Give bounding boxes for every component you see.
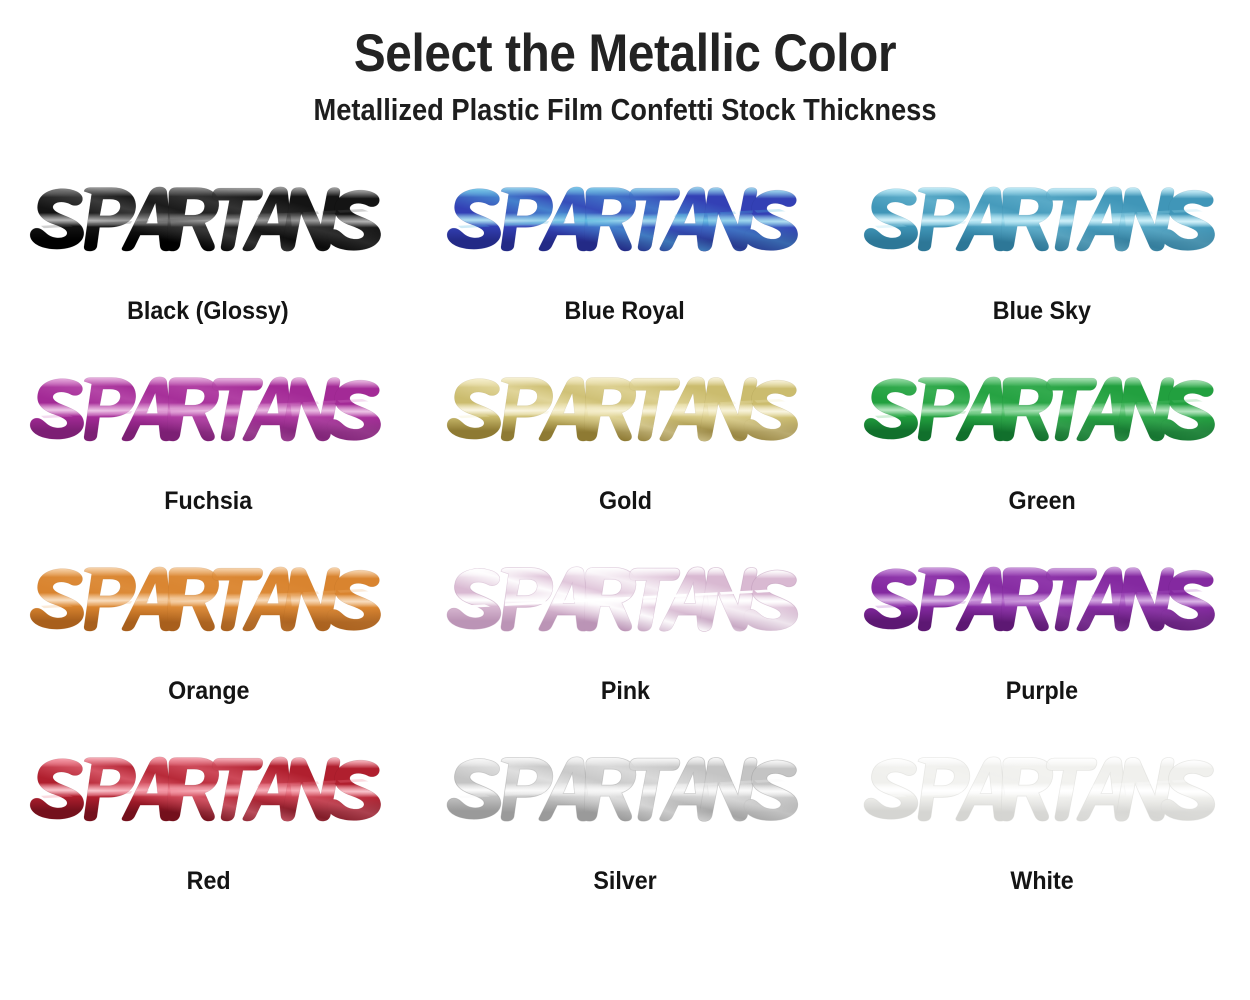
metallic-sheen xyxy=(12,362,418,465)
wordmark-letters xyxy=(845,362,1250,465)
metallic-sheen xyxy=(428,362,834,465)
wordmark-letters xyxy=(845,172,1250,275)
page-header: Select the Metallic Color Metallized Pla… xyxy=(0,0,1250,127)
wordmark-letters xyxy=(428,742,834,845)
wordmark-svg: SPARTANS xyxy=(28,547,388,651)
color-swatch-red[interactable]: SPARTANSRed xyxy=(3,737,413,927)
color-label-black-glossy: Black (Glossy) xyxy=(128,297,290,326)
wordmark-svg: SPARTANS xyxy=(862,737,1222,841)
color-swatch-pink[interactable]: SPARTANSPink xyxy=(420,547,830,737)
wordmark-letters xyxy=(428,172,834,275)
color-label-silver: Silver xyxy=(593,867,656,896)
spartans-wordmark-black-glossy[interactable]: SPARTANS xyxy=(28,167,388,271)
color-swatch-silver[interactable]: SPARTANSSilver xyxy=(420,737,830,927)
wordmark-svg: SPARTANS xyxy=(862,357,1222,461)
metallic-sheen xyxy=(845,172,1250,275)
color-swatch-white[interactable]: SPARTANSWhite xyxy=(837,737,1247,927)
color-label-blue-sky: Blue Sky xyxy=(993,297,1091,326)
metallic-sheen xyxy=(428,172,834,275)
color-label-blue-royal: Blue Royal xyxy=(565,297,685,326)
spartans-wordmark-silver[interactable]: SPARTANS xyxy=(445,737,805,841)
wordmark-letters xyxy=(12,742,418,845)
color-selector-page: Select the Metallic Color Metallized Pla… xyxy=(0,0,1250,1000)
wordmark-svg: SPARTANS xyxy=(445,737,805,841)
metallic-sheen xyxy=(428,742,834,845)
metallic-sheen xyxy=(845,552,1250,655)
color-label-pink: Pink xyxy=(600,677,649,706)
wordmark-letters xyxy=(845,552,1250,655)
wordmark-letters xyxy=(12,172,418,275)
color-label-orange: Orange xyxy=(168,677,249,706)
color-label-red: Red xyxy=(186,867,230,896)
spartans-wordmark-purple[interactable]: SPARTANS xyxy=(862,547,1222,651)
wordmark-svg: SPARTANS xyxy=(862,167,1222,271)
color-swatch-blue-royal[interactable]: SPARTANSBlue Royal xyxy=(420,167,830,357)
wordmark-svg: SPARTANS xyxy=(28,357,388,461)
spartans-wordmark-blue-sky[interactable]: SPARTANS xyxy=(862,167,1222,271)
color-swatch-orange[interactable]: SPARTANSOrange xyxy=(3,547,413,737)
metallic-sheen xyxy=(12,172,418,275)
color-swatch-purple[interactable]: SPARTANSPurple xyxy=(837,547,1247,737)
color-swatch-blue-sky[interactable]: SPARTANSBlue Sky xyxy=(837,167,1247,357)
spartans-wordmark-gold[interactable]: SPARTANS xyxy=(445,357,805,461)
color-swatch-grid: SPARTANSBlack (Glossy)SPARTANSBlue Royal… xyxy=(0,167,1250,927)
wordmark-svg: SPARTANS xyxy=(445,167,805,271)
spartans-wordmark-red[interactable]: SPARTANS xyxy=(28,737,388,841)
metallic-sheen xyxy=(12,552,418,655)
wordmark-svg: SPARTANS xyxy=(28,167,388,271)
metallic-sheen xyxy=(428,552,834,655)
spartans-wordmark-blue-royal[interactable]: SPARTANS xyxy=(445,167,805,271)
spartans-wordmark-pink[interactable]: SPARTANS xyxy=(445,547,805,651)
color-swatch-black-glossy[interactable]: SPARTANSBlack (Glossy) xyxy=(3,167,413,357)
color-label-white: White xyxy=(1010,867,1073,896)
wordmark-letters xyxy=(12,362,418,465)
color-label-purple: Purple xyxy=(1005,677,1077,706)
page-subtitle: Metallized Plastic Film Confetti Stock T… xyxy=(75,93,1175,127)
wordmark-letters xyxy=(428,552,834,655)
wordmark-letters xyxy=(12,552,418,655)
color-swatch-green[interactable]: SPARTANSGreen xyxy=(837,357,1247,547)
metallic-sheen xyxy=(845,362,1250,465)
spartans-wordmark-green[interactable]: SPARTANS xyxy=(862,357,1222,461)
spartans-wordmark-fuchsia[interactable]: SPARTANS xyxy=(28,357,388,461)
color-label-fuchsia: Fuchsia xyxy=(164,487,252,516)
page-title: Select the Metallic Color xyxy=(63,26,1188,81)
color-label-gold: Gold xyxy=(599,487,652,516)
metallic-sheen xyxy=(12,742,418,845)
spartans-wordmark-white[interactable]: SPARTANS xyxy=(862,737,1222,841)
wordmark-svg: SPARTANS xyxy=(862,547,1222,651)
color-swatch-gold[interactable]: SPARTANSGold xyxy=(420,357,830,547)
wordmark-svg: SPARTANS xyxy=(445,357,805,461)
metallic-sheen xyxy=(845,742,1250,845)
color-swatch-fuchsia[interactable]: SPARTANSFuchsia xyxy=(3,357,413,547)
wordmark-letters xyxy=(845,742,1250,845)
color-label-green: Green xyxy=(1008,487,1075,516)
wordmark-svg: SPARTANS xyxy=(445,547,805,651)
wordmark-letters xyxy=(428,362,834,465)
wordmark-svg: SPARTANS xyxy=(28,737,388,841)
spartans-wordmark-orange[interactable]: SPARTANS xyxy=(28,547,388,651)
